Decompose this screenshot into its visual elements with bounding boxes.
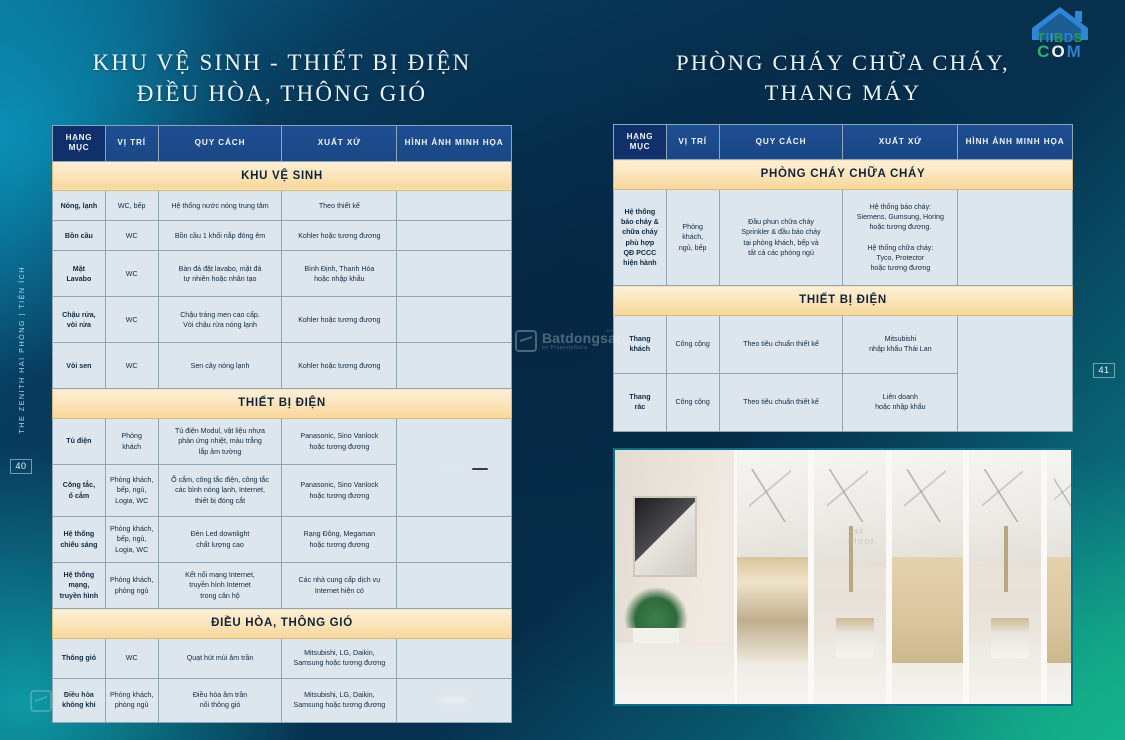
cell-image [397,343,512,389]
cell-location: WC [105,251,158,297]
cell-item: Bồn cầu [53,221,106,251]
cell-item: Tủ điện [53,419,106,465]
table-row: Bồn cầu WC Bồn cầu 1 khối nắp đóng êm Ko… [53,221,512,251]
col-header-xuat-xu: XUẤT XỨ [843,124,958,160]
table-row: Hệ thống chiếu sáng Phòng khách, bếp, ng… [53,517,512,563]
lift-bay-1 [734,450,812,704]
cell-image-empty [397,221,512,251]
cell-spec: Chậu tráng men cao cấp. Vòi chậu rửa nón… [158,297,282,343]
section-heading-row: THIẾT BỊ ĐIỆN [614,286,1073,316]
lift-door-closed-2 [1047,557,1073,664]
cell-item: Điều hòa không khí [53,678,106,722]
col-header-hang-muc: HẠNG MỤC [53,126,106,162]
cell-item: Hệ thống mạng, truyền hình [53,563,106,609]
right-panel: PHÒNG CHÁY CHỮA CHÁY, THANG MÁY HẠNG MỤC… [613,48,1073,432]
cell-image-empty [397,563,512,609]
cell-image: WIDE [397,419,512,517]
switch-plate-3 [472,468,488,470]
section-heading-pccc: PHÒNG CHÁY CHỮA CHÁY [614,160,1073,190]
cell-location: WC [105,343,158,389]
cell-item: Thông gió [53,638,106,678]
section-heading-dieu-hoa: ĐIỀU HÒA, THÔNG GIÓ [53,609,512,639]
cell-location: Phòng khách, ngủ, bếp [666,190,719,286]
cell-origin: Liên doanh hoặc nhập khẩu [843,373,958,431]
lift-bay-3 [889,450,967,704]
cell-origin: Theo thiết kế [282,191,397,221]
cell-spec: Sen cây nóng lạnh [158,343,282,389]
cell-image [397,678,512,722]
cell-item: Nóng, lạnh [53,191,106,221]
table-header-row: HẠNG MỤC VỊ TRÍ QUY CÁCH XUẤT XỨ HÌNH ẢN… [614,124,1073,160]
table-row: Vòi sen WC Sen cây nóng lạnh Kohler hoặc… [53,343,512,389]
cell-spec: Tủ điện Modul, vật liệu nhựa phản ứng nh… [158,419,282,465]
cell-item: Thang rác [614,373,667,431]
cell-origin: Kohler hoặc tương đương [282,297,397,343]
lift-door-open [737,557,809,664]
right-rail: 41 [1083,0,1125,740]
cell-image [958,315,1073,431]
left-title-line1: KHU VỆ SINH - THIẾT BỊ ĐIỆN [52,48,512,79]
table-row: Mặt Lavabo WC Bàn đá đặt lavabo, mặt đá … [53,251,512,297]
cell-image-empty [397,638,512,678]
pendant-cord-2 [1004,526,1008,592]
cell-location: WC [105,638,158,678]
cell-item: Hệ thống báo cháy & chữa cháy phù hợp QĐ… [614,190,667,286]
cell-origin: Mitsubishi nhập khẩu Thái Lan [843,315,958,373]
section-heading-row: ĐIỀU HÒA, THÔNG GIÓ [53,609,512,639]
right-panel-title: PHÒNG CHÁY CHỮA CHÁY, THANG MÁY [613,48,1073,108]
cell-spec: Theo tiêu chuẩn thiết kế [719,373,843,431]
cell-origin: Rạng Đông, Megaman hoặc tương đương [282,517,397,563]
cell-location: Phòng khách, bếp, ngủ, Logia, WC [105,465,158,517]
floor-sign: 1st Floor [848,526,886,546]
cell-origin: Mitsubishi, LG, Daikin, Samsung hoặc tươ… [282,678,397,722]
lobby-console-1 [836,618,874,658]
table-header-row: HẠNG MỤC VỊ TRÍ QUY CÁCH XUẤT XỨ HÌNH ẢN… [53,126,512,162]
table-row: Điều hòa không khí Phòng khách, phòng ng… [53,678,512,722]
col-header-quy-cach: QUY CÁCH [719,124,843,160]
cell-origin: Kohler hoặc tương đương [282,343,397,389]
left-rail: THE ZENITH HAI PHÒNG | TIỆN ÍCH 40 [0,0,42,740]
cell-spec: Theo tiêu chuẩn thiết kế [719,315,843,373]
cell-spec: Quạt hút mùi âm trần [158,638,282,678]
cell-item: Mặt Lavabo [53,251,106,297]
cell-item: Vòi sen [53,343,106,389]
cell-location: Phòng khách, phòng ngủ [105,678,158,722]
col-header-vi-tri: VỊ TRÍ [666,124,719,160]
col-header-xuat-xu: XUẤT XỨ [282,126,397,162]
section-heading-row: KHU VỆ SINH [53,161,512,191]
cell-spec: Đầu phun chữa cháy Sprinkler & đầu báo c… [719,190,843,286]
cell-origin: Panasonic, Sino Vanlock hoặc tương đương [282,465,397,517]
left-title-line2: ĐIỀU HÒA, THÔNG GIÓ [52,79,512,110]
left-table-body: KHU VỆ SINH Nóng, lạnh WC, bếp Hệ thống … [53,161,512,722]
cell-origin: Bình Định, Thanh Hóa hoặc nhập khẩu [282,251,397,297]
cell-location: WC [105,221,158,251]
switch-brand-label: WIDE [443,468,464,476]
cell-spec: Điều hòa âm trần nối thông gió [158,678,282,722]
lift-marble-panel [892,450,964,567]
cell-item: Chậu rửa, vòi rửa [53,297,106,343]
cell-origin: Các nhà cung cấp dịch vụ Internet hiện c… [282,563,397,609]
lift-marble-panel [1047,450,1073,567]
cell-image-empty [958,190,1073,286]
cell-location: Công cộng [666,373,719,431]
page-number-left: 40 [10,459,31,474]
cell-image [397,297,512,343]
cell-spec: Đèn Led downlight chất lượng cao [158,517,282,563]
table-row: Thông gió WC Quạt hút mùi âm trần Mitsub… [53,638,512,678]
right-title-line2: THANG MÁY [613,78,1073,108]
left-panel: KHU VỆ SINH - THIẾT BỊ ĐIỆN ĐIỀU HÒA, TH… [52,48,512,723]
lift-bay-2: 1st Floor [811,450,889,704]
cell-location: Phòng khách [105,419,158,465]
lift-bay-4 [966,450,1044,704]
section-heading-row: PHÒNG CHÁY CHỮA CHÁY [614,160,1073,190]
cell-location: WC [105,297,158,343]
section-heading-khu-ve-sinh: KHU VỆ SINH [53,161,512,191]
right-table-body: PHÒNG CHÁY CHỮA CHÁY Hệ thống báo cháy &… [614,160,1073,431]
section-heading-thiet-bi-dien-right: THIẾT BỊ ĐIỆN [614,286,1073,316]
page-number-right: 41 [1093,363,1114,378]
elevator-lobby-photo: 1st Floor [613,448,1073,706]
table-row: Nóng, lạnh WC, bếp Hệ thống nước nóng tr… [53,191,512,221]
col-header-hang-muc: HẠNG MỤC [614,124,667,160]
lobby-wall-art [633,496,697,577]
cell-location: Công cộng [666,315,719,373]
cell-location: Phòng khách, phòng ngủ [105,563,158,609]
col-header-hinh-anh: HÌNH ẢNH MINH HỌA [958,124,1073,160]
section-heading-thiet-bi-dien: THIẾT BỊ ĐIỆN [53,389,512,419]
cell-location: WC, bếp [105,191,158,221]
table-row: Tủ điện Phòng khách Tủ điện Modul, vật l… [53,419,512,465]
lobby-console-2 [991,618,1029,658]
cell-spec: Hệ thống nước nóng trung tâm [158,191,282,221]
cell-spec: Ổ cắm, công tắc điện, công tắc các bình … [158,465,282,517]
cell-item: Thang khách [614,315,667,373]
right-title-line1: PHÒNG CHÁY CHỮA CHÁY, [613,48,1073,78]
cell-origin: Panasonic, Sino Vanlock hoặc tương đương [282,419,397,465]
cell-image-empty [397,191,512,221]
section-heading-row: THIẾT BỊ ĐIỆN [53,389,512,419]
col-header-quy-cach: QUY CÁCH [158,126,282,162]
cell-spec: Kết nối mạng Internet, truyền hình Inter… [158,563,282,609]
left-panel-title: KHU VỆ SINH - THIẾT BỊ ĐIỆN ĐIỀU HÒA, TH… [52,48,512,109]
cell-spec: Bồn cầu 1 khối nắp đóng êm [158,221,282,251]
col-header-hinh-anh: HÌNH ẢNH MINH HỌA [397,126,512,162]
rail-project-label: THE ZENITH HAI PHÒNG | TIỆN ÍCH [17,266,26,434]
col-header-vi-tri: VỊ TRÍ [105,126,158,162]
cell-location: Phòng khách, bếp, ngủ, Logia, WC [105,517,158,563]
table-row: Hệ thống mạng, truyền hình Phòng khách, … [53,563,512,609]
right-spec-table: HẠNG MỤC VỊ TRÍ QUY CÁCH XUẤT XỨ HÌNH ẢN… [613,124,1073,432]
pendant-cord-1 [849,526,853,592]
lift-marble-panel [737,450,809,567]
lift-bay-5 [1044,450,1073,704]
cell-origin: Kohler hoặc tương đương [282,221,397,251]
lift-door-closed-1 [892,557,964,664]
cell-item: Hệ thống chiếu sáng [53,517,106,563]
cell-origin: Mitsubishi, LG, Daikin, Samsung hoặc tươ… [282,638,397,678]
cell-image-empty [397,517,512,563]
cell-image [397,251,512,297]
table-row: Chậu rửa, vòi rửa WC Chậu tráng men cao … [53,297,512,343]
cell-item: Công tắc, ổ cắm [53,465,106,517]
cell-spec: Bàn đá đặt lavabo, mặt đá tự nhiên hoặc … [158,251,282,297]
left-spec-table: HẠNG MỤC VỊ TRÍ QUY CÁCH XUẤT XỨ HÌNH ẢN… [52,125,512,723]
cell-origin: Hệ thống báo cháy: Siemens, Gumsung, Hor… [843,190,958,286]
table-row: Thang khách Công cộng Theo tiêu chuẩn th… [614,315,1073,373]
table-row: Hệ thống báo cháy & chữa cháy phù hợp QĐ… [614,190,1073,286]
